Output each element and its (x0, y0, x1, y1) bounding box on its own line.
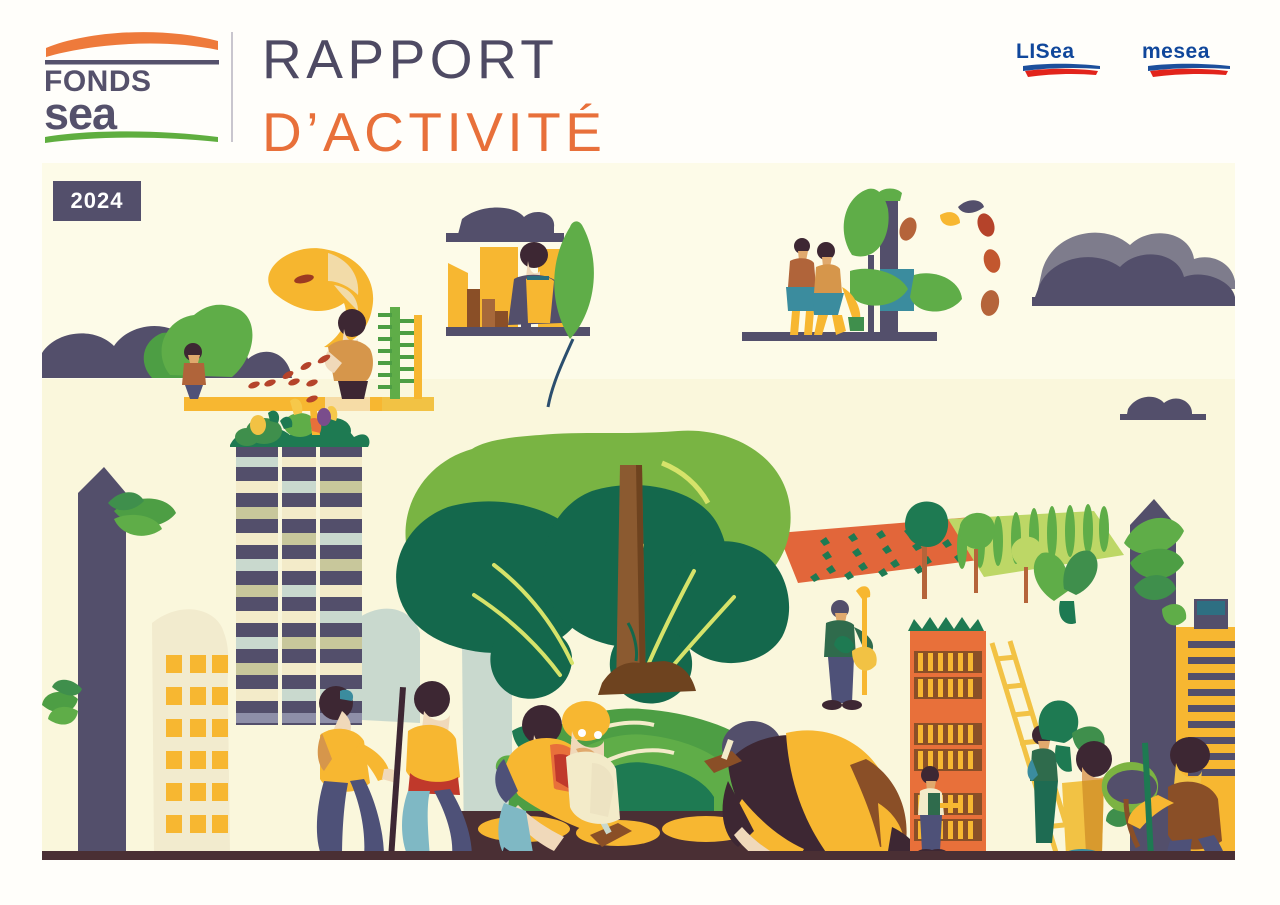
chart-bar-2 (482, 299, 495, 327)
orchard-tree-2-crown (960, 513, 995, 549)
cape-inner-yellow (526, 276, 554, 323)
cover-illustration (42, 163, 1235, 860)
partner-logos: LISea mesea (1014, 36, 1236, 82)
lisea-logo: LISea (1014, 36, 1106, 82)
lisea-swoosh-red (1025, 69, 1098, 77)
fonds-sea-logo: FONDS sea (42, 30, 222, 146)
walker-a-top (788, 258, 816, 287)
mesea-wordmark: mesea (1142, 40, 1210, 63)
page-title: RAPPORT D’ACTIVITÉ (262, 26, 822, 161)
cover-header: FONDS sea RAPPORT D’ACTIVITÉ LISea mesea (0, 0, 1280, 163)
cone-carrier-hair (1076, 741, 1112, 777)
lisea-wordmark: LISea (1016, 40, 1075, 63)
cape-person-hair (520, 242, 548, 268)
year-badge-label: 2024 (71, 188, 124, 214)
bl-adult-hair (414, 681, 450, 717)
logo-word-sea: sea (44, 88, 118, 139)
title-line-rapport: RAPPORT (262, 26, 822, 87)
tiny-worker-tool (940, 803, 960, 808)
platform-right (382, 397, 434, 411)
ground-bar (42, 851, 1235, 860)
assistant-eye-r (594, 731, 602, 739)
cover-page: { "document": { "kind": "annual-report-c… (0, 0, 1280, 905)
cream-tower (152, 609, 230, 853)
cloud-right-base (1032, 297, 1235, 306)
cape-person-shoe (521, 323, 531, 331)
logo-orange-swoosh (46, 32, 218, 57)
chart-bar-1 (467, 289, 480, 327)
assistant-eye-l (578, 729, 586, 737)
logo-top-rule (45, 60, 219, 65)
child-face (188, 355, 200, 363)
mesea-swoosh-red (1150, 69, 1228, 77)
cape-collar (527, 276, 549, 280)
farmer-legs (828, 657, 854, 703)
annex-rooftop-panel (1197, 601, 1225, 615)
orchard-tree-3-trunk (1024, 567, 1028, 603)
title-line-activite: D’ACTIVITÉ (262, 87, 822, 160)
farmer-shoe-l (822, 700, 842, 710)
cloud-small-base (1120, 414, 1206, 420)
tiny-worker-apron (928, 793, 940, 815)
chart-building-2 (448, 263, 468, 327)
child-shirt (182, 363, 206, 385)
mesea-logo: mesea (1140, 36, 1236, 82)
walker-b-top (814, 264, 842, 293)
adult-hair (338, 309, 366, 337)
farmer-shoe-r (842, 700, 862, 710)
chart-bar-3 (495, 311, 508, 327)
year-badge: 2024 (53, 181, 141, 221)
walker-b-watering (848, 317, 864, 331)
plant-leaf-a (1039, 700, 1079, 743)
bl-adult-leg-l (402, 791, 430, 857)
tiny-worker-trousers (920, 815, 942, 851)
post-yellow (414, 315, 422, 399)
orchard-tree-2-trunk (974, 549, 978, 593)
assistant-hat (562, 701, 610, 741)
orchard-tree-1-trunk (922, 547, 927, 599)
adult-legs (338, 381, 368, 399)
orchard-tree-1-crown (905, 502, 948, 547)
header-divider (231, 32, 233, 142)
farmer-tool-handle (862, 595, 867, 695)
